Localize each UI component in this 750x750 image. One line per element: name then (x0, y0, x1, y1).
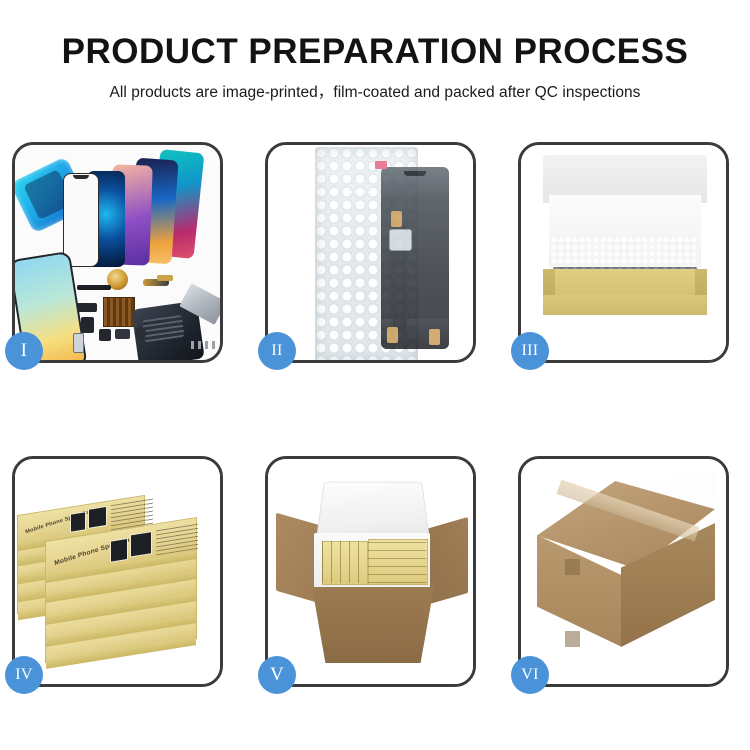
process-step-5[interactable]: V (265, 456, 476, 687)
step-3-photo (521, 145, 726, 360)
chip-grid-part (103, 297, 135, 327)
lcd-notch (404, 171, 426, 176)
carton-tape-patch-2 (565, 631, 580, 647)
step-6-photo (521, 459, 726, 684)
small-part-3 (99, 329, 111, 341)
carton-front-face (312, 587, 434, 663)
lcd-tape-2 (387, 327, 398, 343)
step-badge-3: III (511, 332, 549, 370)
small-part-5 (135, 327, 146, 340)
kraft-tray-front-wall (543, 295, 707, 315)
process-step-grid: I II (12, 142, 738, 687)
lcd-tape-3 (429, 329, 440, 345)
step-badge-2: II (258, 332, 296, 370)
process-step-6[interactable]: VI (518, 456, 729, 687)
screws-group (191, 341, 217, 349)
bubble-wrap-bag (315, 147, 418, 360)
box-window-front-2 (130, 531, 152, 557)
carton-tape-patch-1 (565, 559, 580, 575)
yellow-box-stack-right-edges (368, 539, 426, 583)
step-badge-6: VI (511, 656, 549, 694)
box-window-front-1 (110, 538, 128, 563)
lcd-tape-1 (391, 211, 402, 227)
pink-qc-label (375, 161, 387, 169)
step-badge-4: IV (5, 656, 43, 694)
flex-cable-part (77, 285, 111, 290)
page-header: PRODUCT PREPARATION PROCESS All products… (0, 0, 750, 102)
box-spec-lines-front (156, 523, 198, 556)
phone-screen-a (63, 173, 99, 267)
box-window-back-1 (70, 511, 86, 533)
small-part-6 (73, 333, 84, 353)
lcd-connector (389, 229, 412, 251)
step-1-photo (15, 145, 220, 360)
process-step-2[interactable]: II (265, 142, 476, 363)
page-title: PRODUCT PREPARATION PROCESS (0, 34, 750, 71)
small-part-7 (157, 275, 173, 281)
yellow-box-stack-left-edges (322, 541, 366, 583)
step-5-photo (268, 459, 473, 684)
box-window-back-2 (88, 506, 107, 529)
page-subtitle: All products are image-printed，film-coat… (0, 80, 750, 102)
step-badge-5: V (258, 656, 296, 694)
process-step-4[interactable]: Mobile Phone Spare Parts Mobile Phone Sp… (12, 456, 223, 687)
step-badge-1: I (5, 332, 43, 370)
step-4-photo: Mobile Phone Spare Parts Mobile Phone Sp… (15, 459, 220, 684)
step-2-photo (268, 145, 473, 360)
small-part-4 (115, 329, 130, 339)
process-step-1[interactable]: I (12, 142, 223, 363)
small-part-2 (81, 317, 94, 333)
lcd-screen-assembly (381, 167, 449, 349)
process-step-3[interactable]: III (518, 142, 729, 363)
small-part-1 (77, 303, 97, 312)
